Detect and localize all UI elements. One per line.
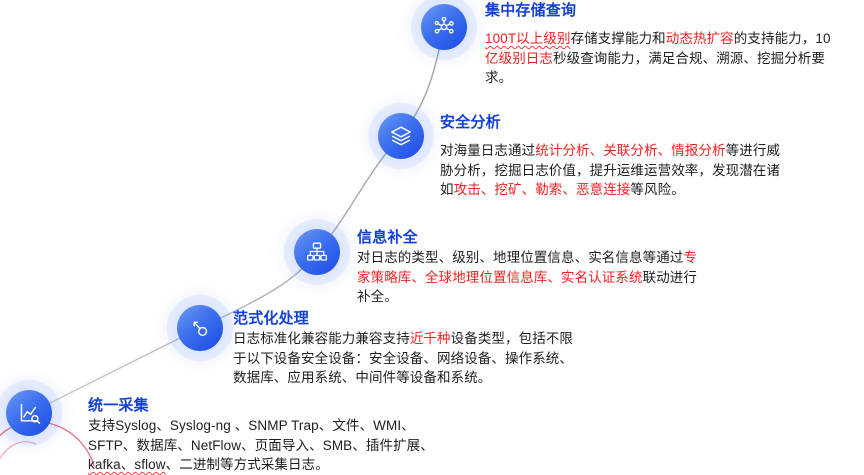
step-body-line: 对日志的类型、级别、地理位置信息、实名信息等通过专	[357, 248, 777, 268]
step-node-unified-collection[interactable]	[6, 390, 52, 436]
highlight-text: 家策略库、全球地理位置信息库、实名认证系统	[357, 270, 643, 285]
step-body-line: 对海量日志通过统计分析、关联分析、情报分析等进行威	[440, 141, 852, 161]
highlight-text: 统计分析、关联分析、情报分析	[535, 143, 725, 158]
step-body-line: 家策略库、全球地理位置信息库、实名认证系统联动进行	[357, 268, 777, 288]
body-text: 对日志的类型、级别、地理位置信息、实名信息等通过	[357, 250, 683, 265]
step-text-normalization-processing: 范式化处理 日志标准化兼容能力兼容支持近千种设备类型，包括不限于以下设备安全设备…	[233, 309, 673, 388]
body-text: 支持Syslog、Syslog-ng 、SNMP Trap、文件、WMI、	[88, 418, 415, 433]
step-body: 对海量日志通过统计分析、关联分析、情报分析等进行威胁分析，挖掘日志价值，提升运维…	[440, 141, 852, 200]
step-body-line: SFTP、数据库、NetFlow、页面导入、SMB、插件扩展、	[88, 436, 518, 456]
infographic-stage: 集中存储查询 100T以上级别存储支撑能力和动态热扩容的支持能力，10亿级别日志…	[0, 0, 864, 466]
step-text-centralized-storage-query: 集中存储查询 100T以上级别存储支撑能力和动态热扩容的支持能力，10亿级别日志…	[485, 1, 857, 88]
step-text-unified-collection: 统一采集 支持Syslog、Syslog-ng 、SNMP Trap、文件、WM…	[88, 396, 518, 475]
step-body-line: 如攻击、挖矿、勒索、恶意连接等风险。	[440, 180, 852, 200]
step-body-line: 日志标准化兼容能力兼容支持近千种设备类型，包括不限	[233, 329, 673, 349]
step-text-information-enrichment: 信息补全 对日志的类型、级别、地理位置信息、实名信息等通过专家策略库、全球地理位…	[357, 228, 777, 307]
step-body-line: 支持Syslog、Syslog-ng 、SNMP Trap、文件、WMI、	[88, 416, 518, 436]
body-text: 补全。	[357, 289, 398, 304]
step-node-normalization-processing[interactable]	[177, 305, 223, 351]
step-body-line: 胁分析，挖掘日志价值，提升运维运营效率，发现潜在诸	[440, 161, 852, 181]
layers-stack-icon	[389, 124, 413, 148]
step-body: 日志标准化兼容能力兼容支持近千种设备类型，包括不限于以下设备安全设备：安全设备、…	[233, 329, 673, 388]
network-nodes-icon	[432, 15, 456, 39]
body-text: 秒级查询能力，满足合规、溯源、挖掘分析要	[553, 51, 825, 66]
key-icon	[188, 316, 212, 340]
step-body-line: kafka、sflow、二进制等方式采集日志。	[88, 455, 518, 475]
spellcheck-text: kafka、sflow	[88, 457, 166, 472]
sitemap-hierarchy-icon	[305, 240, 329, 264]
highlight-text: 动态热扩容	[666, 31, 734, 46]
body-text: 、二进制等方式采集日志。	[166, 457, 329, 472]
step-body-line: 100T以上级别存储支撑能力和动态热扩容的支持能力，10	[485, 29, 857, 49]
step-node-centralized-storage-query[interactable]	[421, 4, 467, 50]
step-body-line: 求。	[485, 68, 857, 88]
body-text: 联动进行	[643, 270, 697, 285]
highlight-text: 亿级别日志	[485, 51, 553, 66]
body-text: 胁分析，挖掘日志价值，提升运维运营效率，发现潜在诸	[440, 163, 780, 178]
step-title: 范式化处理	[233, 309, 673, 328]
body-text: SFTP、数据库、NetFlow、页面导入、SMB、插件扩展、	[88, 438, 434, 453]
body-text: 的支持能力，10	[734, 31, 831, 46]
body-text: 求。	[485, 70, 512, 85]
step-text-security-analysis: 安全分析 对海量日志通过统计分析、关联分析、情报分析等进行威胁分析，挖掘日志价值…	[440, 113, 852, 200]
step-body: 100T以上级别存储支撑能力和动态热扩容的支持能力，10亿级别日志秒级查询能力，…	[485, 29, 857, 88]
body-text: 日志标准化兼容能力兼容支持	[233, 331, 410, 346]
step-title: 安全分析	[440, 113, 852, 132]
body-text: 数据库、应用系统、中间件等设备和系统。	[233, 370, 491, 385]
step-title: 集中存储查询	[485, 1, 857, 20]
step-body-line: 亿级别日志秒级查询能力，满足合规、溯源、挖掘分析要	[485, 49, 857, 69]
highlight-text: 100T以上级别	[485, 31, 571, 46]
decorative-arc-inner	[0, 442, 36, 466]
body-text: 如	[440, 182, 454, 197]
body-text: 对海量日志通过	[440, 143, 535, 158]
step-node-security-analysis[interactable]	[378, 113, 424, 159]
body-text: 等风险。	[630, 182, 684, 197]
step-body: 对日志的类型、级别、地理位置信息、实名信息等通过专家策略库、全球地理位置信息库、…	[357, 248, 777, 307]
highlight-text: 近千种	[410, 331, 451, 346]
step-node-information-enrichment[interactable]	[294, 229, 340, 275]
step-body-line: 于以下设备安全设备：安全设备、网络设备、操作系统、	[233, 349, 673, 369]
step-body-line: 数据库、应用系统、中间件等设备和系统。	[233, 368, 673, 388]
step-body-line: 补全。	[357, 287, 777, 307]
highlight-text: 专	[683, 250, 697, 265]
step-title: 统一采集	[88, 396, 518, 415]
body-text: 存储支撑能力和	[571, 31, 666, 46]
body-text: 等进行威	[726, 143, 780, 158]
body-text: 于以下设备安全设备：安全设备、网络设备、操作系统、	[233, 351, 573, 366]
highlight-text: 攻击、挖矿、勒索、恶意连接	[454, 182, 631, 197]
chart-search-icon	[17, 401, 42, 426]
step-title: 信息补全	[357, 228, 777, 247]
body-text: 设备类型，包括不限	[451, 331, 573, 346]
